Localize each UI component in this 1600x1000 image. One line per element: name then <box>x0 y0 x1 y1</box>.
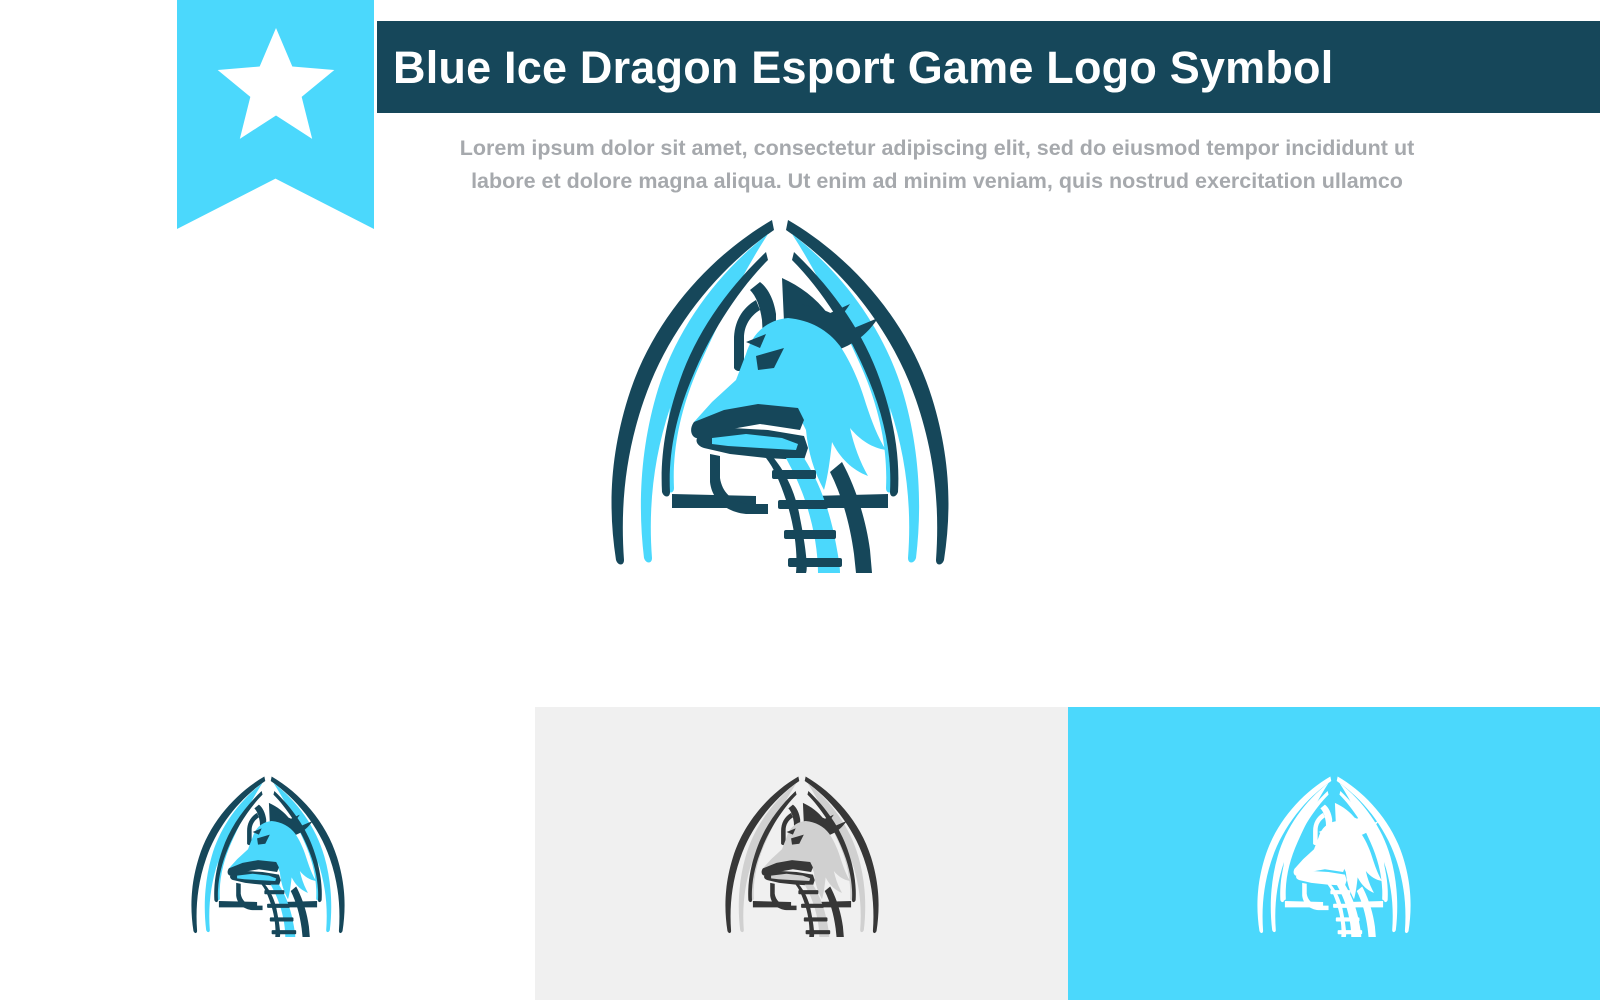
subtitle-text: Lorem ipsum dolor sit amet, consectetur … <box>377 132 1497 198</box>
subtitle-line-1: Lorem ipsum dolor sit amet, consectetur … <box>377 132 1497 165</box>
dragon-head-wings-icon <box>1234 746 1434 962</box>
ribbon-banner <box>177 0 374 229</box>
page-title: Blue Ice Dragon Esport Game Logo Symbol <box>393 45 1333 90</box>
variant-grayscale-on-gray <box>535 707 1068 1000</box>
dragon-head-wings-icon <box>560 208 1000 573</box>
poster-canvas: Blue Ice Dragon Esport Game Logo Symbol … <box>0 0 1600 1000</box>
star-icon <box>217 28 335 140</box>
dragon-head-wings-icon <box>702 746 902 962</box>
variant-white-on-cyan <box>1068 707 1600 1000</box>
variant-row <box>0 707 1600 1000</box>
main-logo: COOL DRAGON <box>560 208 1000 573</box>
title-bar: Blue Ice Dragon Esport Game Logo Symbol <box>377 21 1600 113</box>
subtitle-line-2: labore et dolore magna aliqua. Ut enim a… <box>377 165 1497 198</box>
variant-color-on-white <box>0 707 535 1000</box>
dragon-head-wings-icon <box>168 746 368 962</box>
